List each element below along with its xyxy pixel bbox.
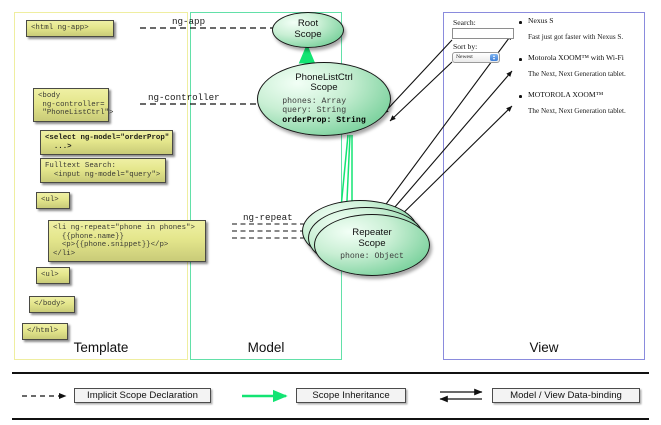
code-box-li-repeat: <li ng-repeat="phone in phones"> {{phone… <box>48 220 206 262</box>
code-box-ul-open: <ul> <box>36 192 70 209</box>
view-phone-name[interactable]: Motorola XOOM™ with Wi-Fi <box>528 53 624 62</box>
code-box-body-close: </body> <box>29 296 75 313</box>
scope-phonelistctrl: PhoneListCtrl Scope phones: Array query:… <box>257 62 391 136</box>
view-search-label: Search: <box>453 18 476 27</box>
wire-label-ng-app: ng-app <box>172 16 205 27</box>
panel-title-template: Template <box>15 340 187 355</box>
chevron-updown-icon <box>490 54 498 61</box>
list-bullet-icon <box>519 58 522 61</box>
view-phone-snippet: The Next, Next Generation tablet. <box>528 70 626 78</box>
view-phone-snippet: The Next, Next Generation tablet. <box>528 107 626 115</box>
code-box-select: <select ng-model="orderProp" ...> <box>40 130 173 155</box>
scope-prop-phone: phone: Object <box>340 252 404 261</box>
view-sort-selected-value: Newest <box>456 54 473 60</box>
scope-prop-orderprop: orderProp: String <box>282 116 366 125</box>
view-phone-name[interactable]: Nexus S <box>528 16 554 25</box>
wire-label-ng-repeat: ng-repeat <box>243 212 293 223</box>
view-phone-snippet: Fast just got faster with Nexus S. <box>528 33 623 41</box>
scope-repeater: Repeater Scope phone: Object <box>314 214 430 276</box>
scope-root-title: Root Scope <box>294 19 321 40</box>
scope-root: Root Scope <box>272 12 344 48</box>
code-box-body-open: <body ng-controller= "PhoneListCtrl"> <box>33 88 109 122</box>
panel-title-model: Model <box>191 340 341 355</box>
scope-phonelistctrl-props: phones: Array query: String orderProp: S… <box>282 97 366 125</box>
code-box-html-close: </html> <box>22 323 68 340</box>
wire-label-ng-controller: ng-controller <box>148 92 220 103</box>
scope-repeater-props: phone: Object <box>340 252 404 261</box>
scope-prop-query: query: String <box>282 106 366 115</box>
legend-implicit-scope-declaration: Implicit Scope Declaration <box>74 388 211 403</box>
legend-scope-inheritance: Scope Inheritance <box>296 388 406 403</box>
view-sort-select[interactable]: Newest <box>452 52 500 63</box>
view-sort-label: Sort by: <box>453 42 477 51</box>
code-box-html-open: <html ng-app> <box>26 20 114 37</box>
code-box-ul-close: <ul> <box>36 267 70 284</box>
legend-model-view-databinding: Model / View Data-binding <box>492 388 640 403</box>
code-box-fulltext-search: Fulltext Search: <input ng-model="query"… <box>40 158 166 183</box>
list-bullet-icon <box>519 95 522 98</box>
panel-view: View <box>443 12 645 360</box>
view-search-input[interactable] <box>452 28 514 39</box>
view-phone-name[interactable]: MOTOROLA XOOM™ <box>528 90 603 99</box>
legend-top-rule <box>12 372 649 374</box>
legend-bottom-rule <box>12 418 649 420</box>
scope-phonelistctrl-title: PhoneListCtrl Scope <box>295 73 353 94</box>
panel-title-view: View <box>444 340 644 355</box>
diagram-canvas: Template Model View <box>0 0 661 425</box>
scope-prop-phones: phones: Array <box>282 97 366 106</box>
list-bullet-icon <box>519 21 522 24</box>
scope-repeater-title: Repeater Scope <box>352 228 391 249</box>
